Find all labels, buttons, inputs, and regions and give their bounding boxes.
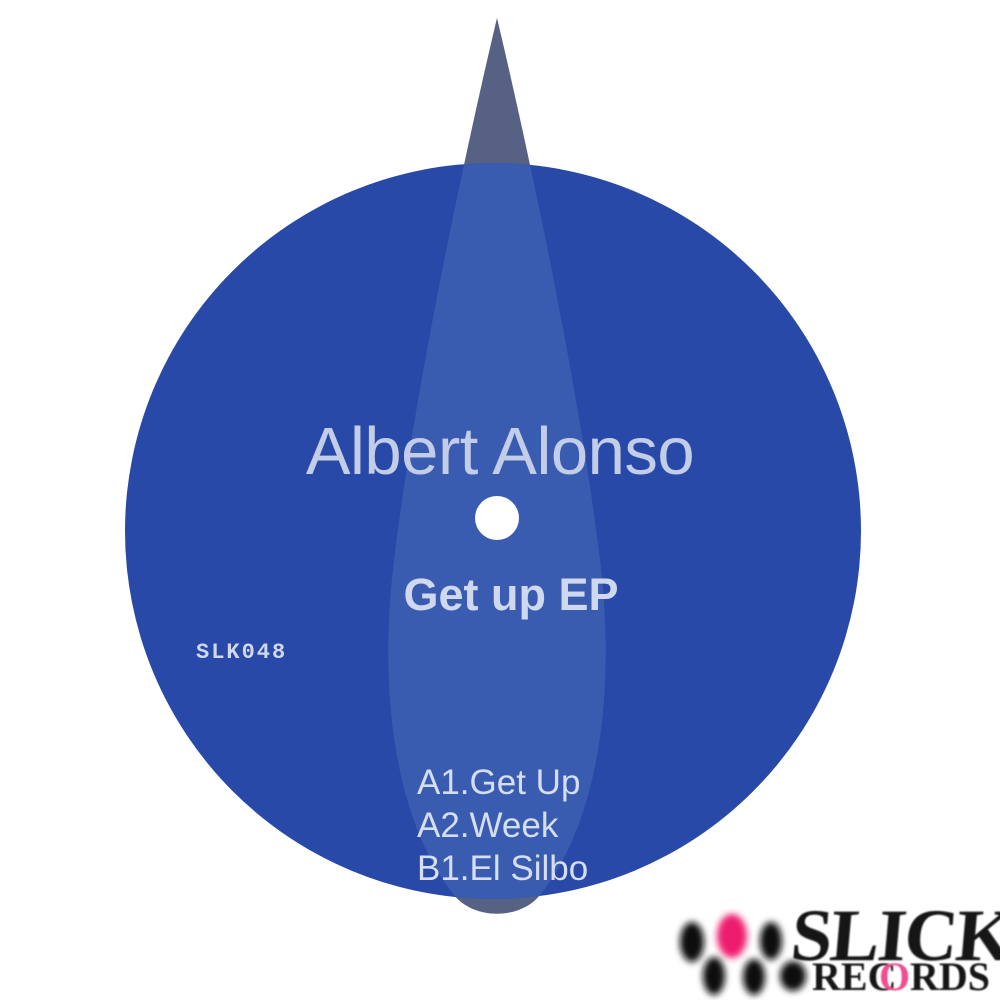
svg-text:O: O	[879, 954, 910, 999]
tracklist-item: B1.El Silbo	[417, 847, 588, 890]
spindle-hole	[475, 496, 519, 540]
tracklist-item: A1.Get Up	[417, 761, 588, 804]
logo-wordmark-records: REC O RDS	[812, 954, 990, 999]
catalog-number: SLK048	[196, 642, 287, 664]
slick-records-logo: SLICK REC O RDS	[672, 884, 1000, 1000]
logo-dot-dark-icon	[743, 959, 765, 995]
svg-text:RDS: RDS	[910, 954, 990, 999]
logo-dot-dark-icon	[680, 922, 704, 962]
artist-name: Albert Alonso	[0, 418, 1000, 485]
album-cover-artwork: Albert Alonso Get up EP SLK048 A1.Get Up…	[0, 0, 1000, 1000]
logo-dot-pink-icon	[717, 914, 747, 958]
logo-dot-dark-icon	[760, 922, 782, 960]
logo-dot-dark-icon	[703, 957, 725, 995]
tracklist: A1.Get Up A2.Week B1.El Silbo	[417, 761, 588, 890]
tracklist-item: A2.Week	[417, 804, 588, 847]
release-title: Get up EP	[0, 572, 1000, 617]
logo-dot-cluster-top	[680, 914, 782, 962]
